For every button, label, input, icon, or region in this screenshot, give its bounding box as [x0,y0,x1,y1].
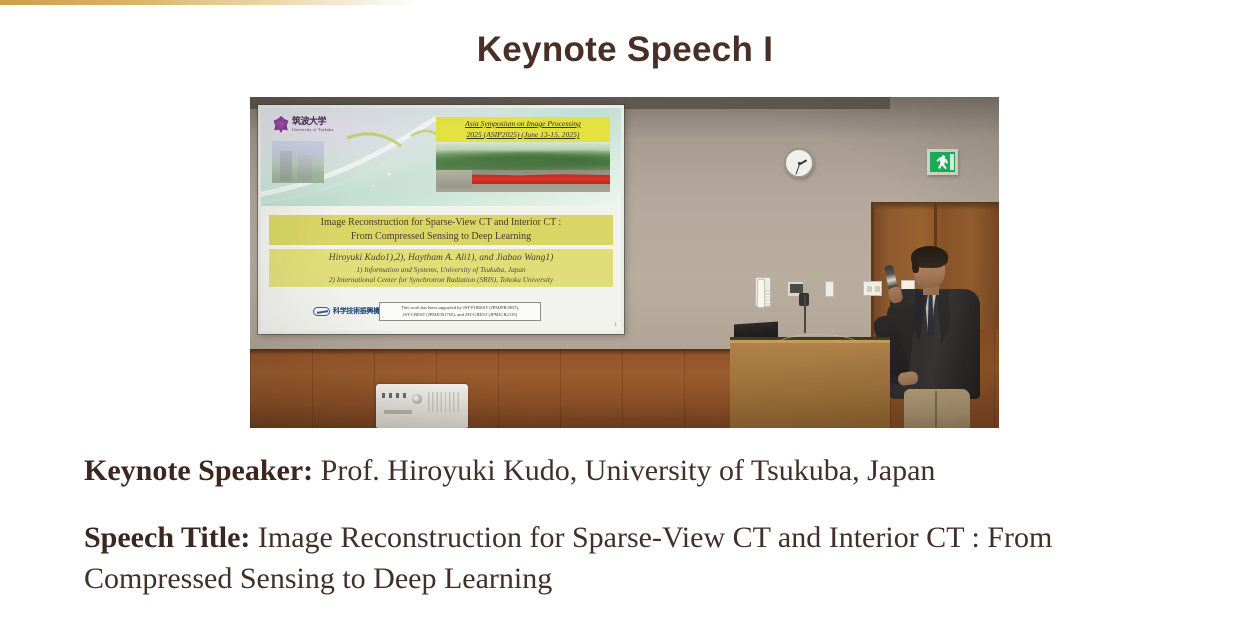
slide-header-banner: 筑波大学 University of Tsukuba Asia Symposiu… [261,108,621,206]
slide-authors-band: Hiroyuki Kudo1),2), Haytham A. Ali1), an… [269,249,613,287]
slide-authors: Hiroyuki Kudo1),2), Haytham A. Ali1), an… [329,252,554,265]
wall-outlet-panel [863,281,882,296]
speaker-legs [904,389,970,428]
speech-title-line: Speech Title: Image Reconstruction for S… [84,517,1184,599]
caption-block: Keynote Speaker: Prof. Hiroyuki Kudo, Un… [84,450,1184,599]
keynote-speaker-value: Prof. Hiroyuki Kudo, University of Tsuku… [313,454,935,487]
floor-microphone-stand [804,295,806,333]
slide-page: Keynote Speech I [0,0,1250,625]
exit-sign-face [930,152,955,172]
projector-lens-icon [412,394,422,404]
funder-logo: 科学技術振興機構 [313,306,387,316]
campus-road-photo [436,144,610,192]
slide-affiliation-2: 2) International Center for Synchrotron … [329,275,553,285]
university-logo-text: 筑波大学 University of Tsukuba [292,118,334,132]
acknowledgement-line-2: JST-CREST (JPMJCR1765), and JST-CREST (J… [403,312,518,319]
wall-clock-icon [784,148,814,178]
symposium-line-1: Asia Symposium on Image Processing [438,118,608,129]
wall-switch-panel [825,281,834,297]
speaker-glasses-icon [914,265,942,272]
speech-title-label: Speech Title: [84,521,250,554]
slide-title-band: Image Reconstruction for Sparse-View CT … [269,215,613,245]
emergency-exit-sign-icon [927,149,958,175]
university-name-cjk: 筑波大学 [292,118,334,127]
exit-door-mark [950,154,954,170]
running-person-icon [936,155,949,169]
keynote-photo: 筑波大学 University of Tsukuba Asia Symposiu… [250,97,999,428]
projection-screen: 筑波大学 University of Tsukuba Asia Symposiu… [258,105,624,334]
jst-logo-icon [313,307,330,316]
keynote-speaker-line: Keynote Speaker: Prof. Hiroyuki Kudo, Un… [84,450,1184,491]
keynote-speaker-label: Keynote Speaker: [84,454,313,487]
road-photo-left-structure [436,170,472,188]
university-name-en: University of Tsukuba [292,127,334,132]
wall-telephone-icon [755,277,771,307]
acknowledgement-box: This work has been supported by JST-FORE… [379,302,541,321]
symposium-banner: Asia Symposium on Image Processing 2025 … [436,117,610,142]
slide-title-line-2: From Compressed Sensing to Deep Learning [351,230,531,244]
road-photo-trees [436,146,610,172]
tsukuba-petal-icon [273,116,289,133]
projector-device [376,384,468,428]
university-logo: 筑波大学 University of Tsukuba [273,115,347,134]
slide-title-line-1: Image Reconstruction for Sparse-View CT … [321,216,562,230]
wood-wall-shadow [250,349,730,355]
top-accent-strip [0,0,420,5]
campus-thumbnail-photo [272,141,324,183]
projector-label [384,410,412,414]
clock-center [798,162,801,165]
projector-vents [428,392,460,412]
symposium-line-2: 2025 (ASIP2025) (June 13-15, 2025) [438,129,608,140]
wood-wall-lower [250,349,730,428]
podium [730,340,890,428]
clock-minute-hand [795,164,800,175]
projector-buttons [382,393,406,398]
slide-affiliation-1: 1) Information and Systems, University o… [356,265,525,275]
slide-page-number: 1 [615,323,618,328]
page-title: Keynote Speech I [0,30,1250,70]
projected-slide: 筑波大学 University of Tsukuba Asia Symposiu… [261,108,621,331]
